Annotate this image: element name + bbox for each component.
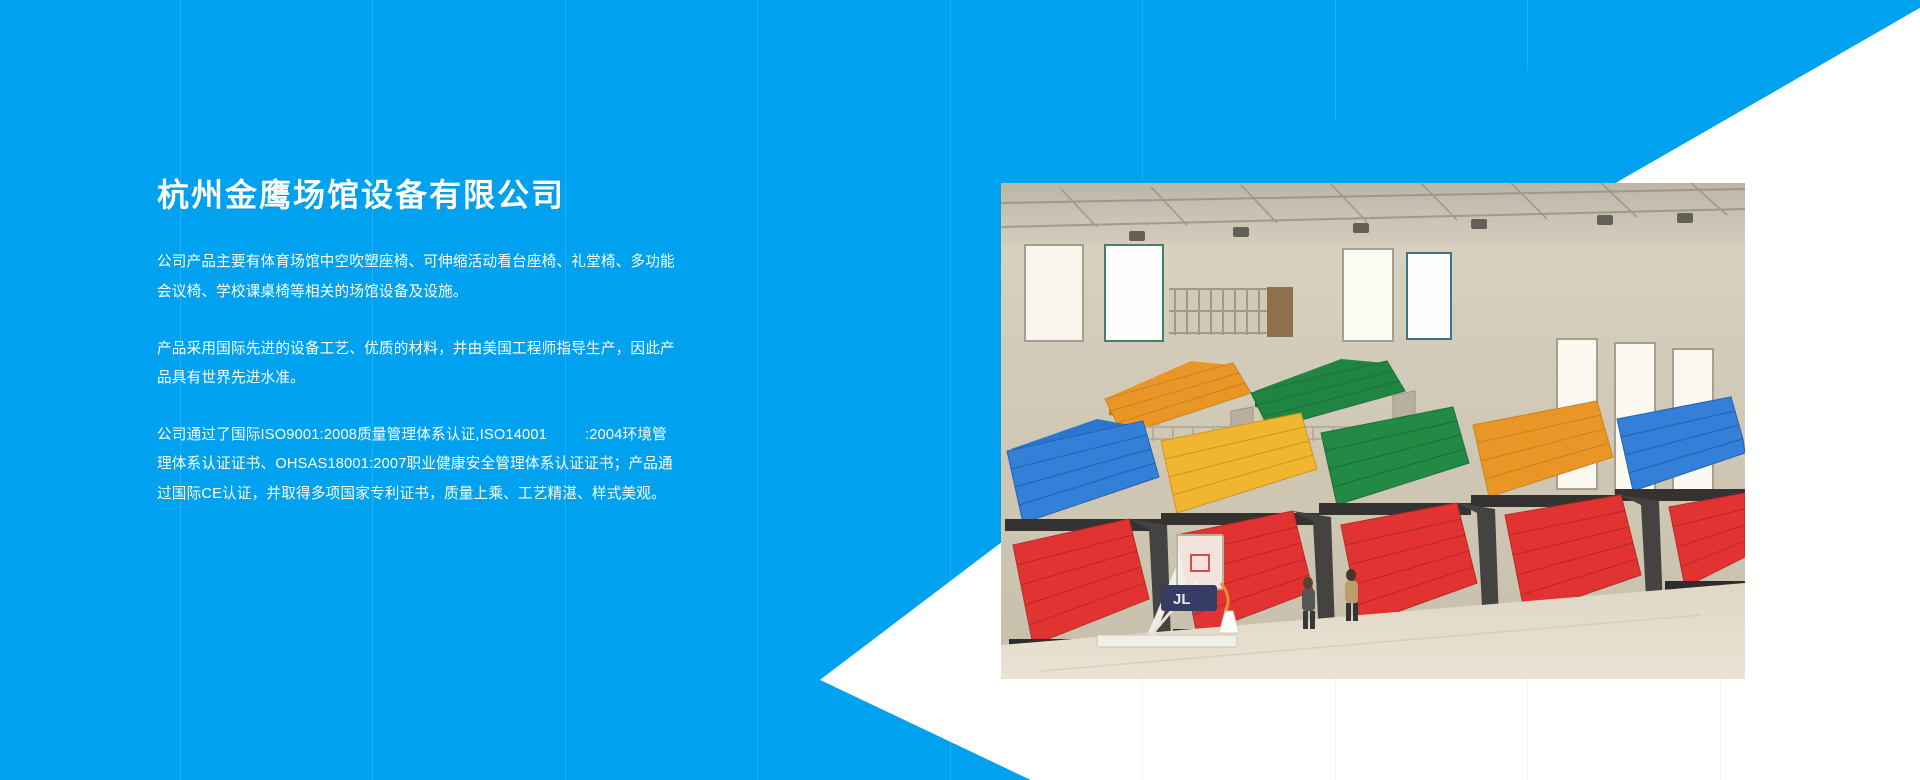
company-text-block: 杭州金鹰场馆设备有限公司 公司产品主要有体育场馆中空吹塑座椅、可伸缩活动看台座椅… (157, 176, 677, 509)
manufacturing-quality-paragraph: 产品采用国际先进的设备工艺、优质的材料，并由美国工程师指导生产，因此产品具有世界… (157, 335, 677, 393)
gymnasium-photo: JL (1001, 183, 1745, 679)
page-title: 杭州金鹰场馆设备有限公司 (157, 176, 677, 214)
certification-text-part1: 公司通过了国际ISO9001:2008质量管理体系认证,ISO14001 (157, 427, 547, 443)
gymnasium-photo-image: JL (1001, 183, 1745, 679)
certification-paragraph: 公司通过了国际ISO9001:2008质量管理体系认证,ISO14001:200… (157, 421, 677, 509)
promo-banner: 杭州金鹰场馆设备有限公司 公司产品主要有体育场馆中空吹塑座椅、可伸缩活动看台座椅… (0, 0, 1920, 780)
product-description-paragraph: 公司产品主要有体育场馆中空吹塑座椅、可伸缩活动看台座椅、礼堂椅、多功能会议椅、学… (157, 248, 677, 306)
